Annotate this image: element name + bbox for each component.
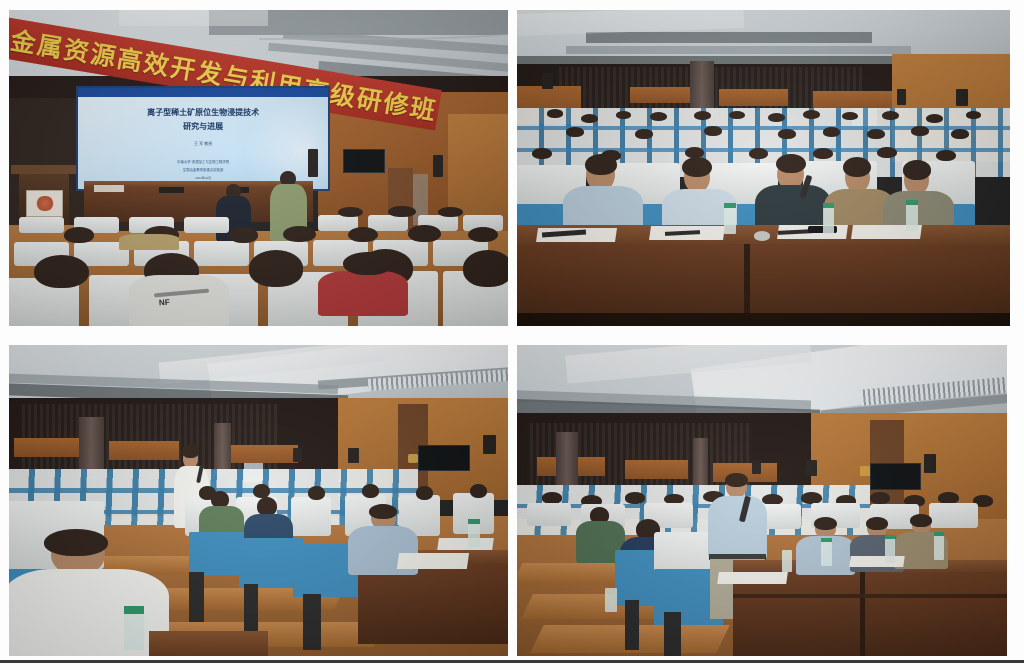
auditorium-side-scene (517, 345, 1007, 656)
photo-top-left[interactable]: 金属资源高效开发与利用高级研修班 离子型稀土矿原位生物浸提技术 研究与进展 王 … (9, 10, 508, 326)
bottom-divider-rule (0, 660, 1024, 663)
collage-canvas: 金属资源高效开发与利用高级研修班 离子型稀土矿原位生物浸提技术 研究与进展 王 … (0, 0, 1024, 664)
photo-top-right[interactable] (517, 10, 1010, 326)
photo-bottom-left[interactable] (9, 345, 508, 656)
lecture-hall-scene-front: 金属资源高效开发与利用高级研修班 离子型稀土矿原位生物浸提技术 研究与进展 王 … (9, 10, 508, 326)
photo-bottom-right[interactable] (517, 345, 1007, 656)
seminar-front-row-scene (517, 10, 1010, 326)
auditorium-wide-scene (9, 345, 508, 656)
